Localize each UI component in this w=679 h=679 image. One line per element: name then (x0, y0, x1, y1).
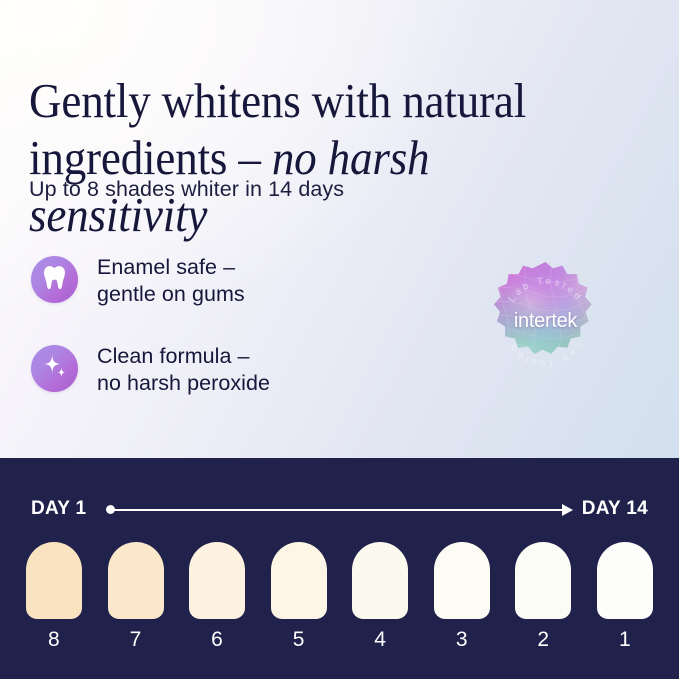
shade-item: 5 (267, 542, 331, 652)
tooth-icon (43, 265, 66, 295)
shade-item: 7 (104, 542, 168, 652)
sparkle-icon-badge (31, 345, 78, 392)
subheadline: Up to 8 shades whiter in 14 days (29, 176, 344, 202)
shade-number: 6 (185, 628, 249, 652)
tooth-swatch (26, 542, 82, 619)
tooth-swatch (189, 542, 245, 619)
shade-scale-panel: DAY 1 DAY 14 8 7 6 5 (0, 458, 679, 679)
tooth-swatch (434, 542, 490, 619)
shade-number: 5 (267, 628, 331, 652)
shade-number: 1 (593, 628, 657, 652)
shade-number: 8 (22, 628, 86, 652)
feature-line-1: Enamel safe – (97, 255, 235, 279)
shade-scale: 8 7 6 5 4 3 (22, 542, 657, 652)
feature-line-2: no harsh peroxide (97, 371, 270, 395)
timeline: DAY 1 DAY 14 (0, 496, 679, 524)
timeline-line (112, 509, 564, 511)
intertek-lab-tested-badge: Lab Tested Lab Tested intertek (483, 259, 608, 384)
sparkle-icon (42, 353, 68, 384)
tooth-swatch (352, 542, 408, 619)
tooth-swatch (597, 542, 653, 619)
shade-item: 3 (430, 542, 494, 652)
feature-item-clean-formula: Clean formula – no harsh peroxide (31, 341, 431, 397)
page-title: Gently whitens with natural ingredients … (29, 72, 618, 243)
headline-line-1: Gently whitens with natural (29, 73, 526, 128)
feature-line-1: Clean formula – (97, 344, 250, 368)
feature-line-2: gentle on gums (97, 282, 245, 306)
shade-number: 7 (104, 628, 168, 652)
whitening-infographic: Gently whitens with natural ingredients … (0, 0, 679, 679)
tooth-swatch (108, 542, 164, 619)
timeline-end-label: DAY 14 (582, 496, 648, 522)
tooth-swatch (271, 542, 327, 619)
timeline-track (106, 508, 573, 512)
feature-text-clean-formula: Clean formula – no harsh peroxide (97, 341, 270, 397)
feature-list: Enamel safe – gentle on gums Clean formu… (31, 252, 431, 430)
top-light-panel: Gently whitens with natural ingredients … (0, 0, 679, 458)
shade-item: 1 (593, 542, 657, 652)
shade-number: 4 (348, 628, 412, 652)
feature-item-enamel-safe: Enamel safe – gentle on gums (31, 252, 431, 308)
shade-number: 2 (511, 628, 575, 652)
shade-item: 2 (511, 542, 575, 652)
timeline-start-label: DAY 1 (31, 496, 86, 522)
shade-item: 8 (22, 542, 86, 652)
tooth-icon-badge (31, 256, 78, 303)
arrow-right-icon (562, 504, 573, 516)
feature-text-enamel-safe: Enamel safe – gentle on gums (97, 252, 245, 308)
tooth-swatch (515, 542, 571, 619)
shade-item: 6 (185, 542, 249, 652)
shade-item: 4 (348, 542, 412, 652)
shade-number: 3 (430, 628, 494, 652)
